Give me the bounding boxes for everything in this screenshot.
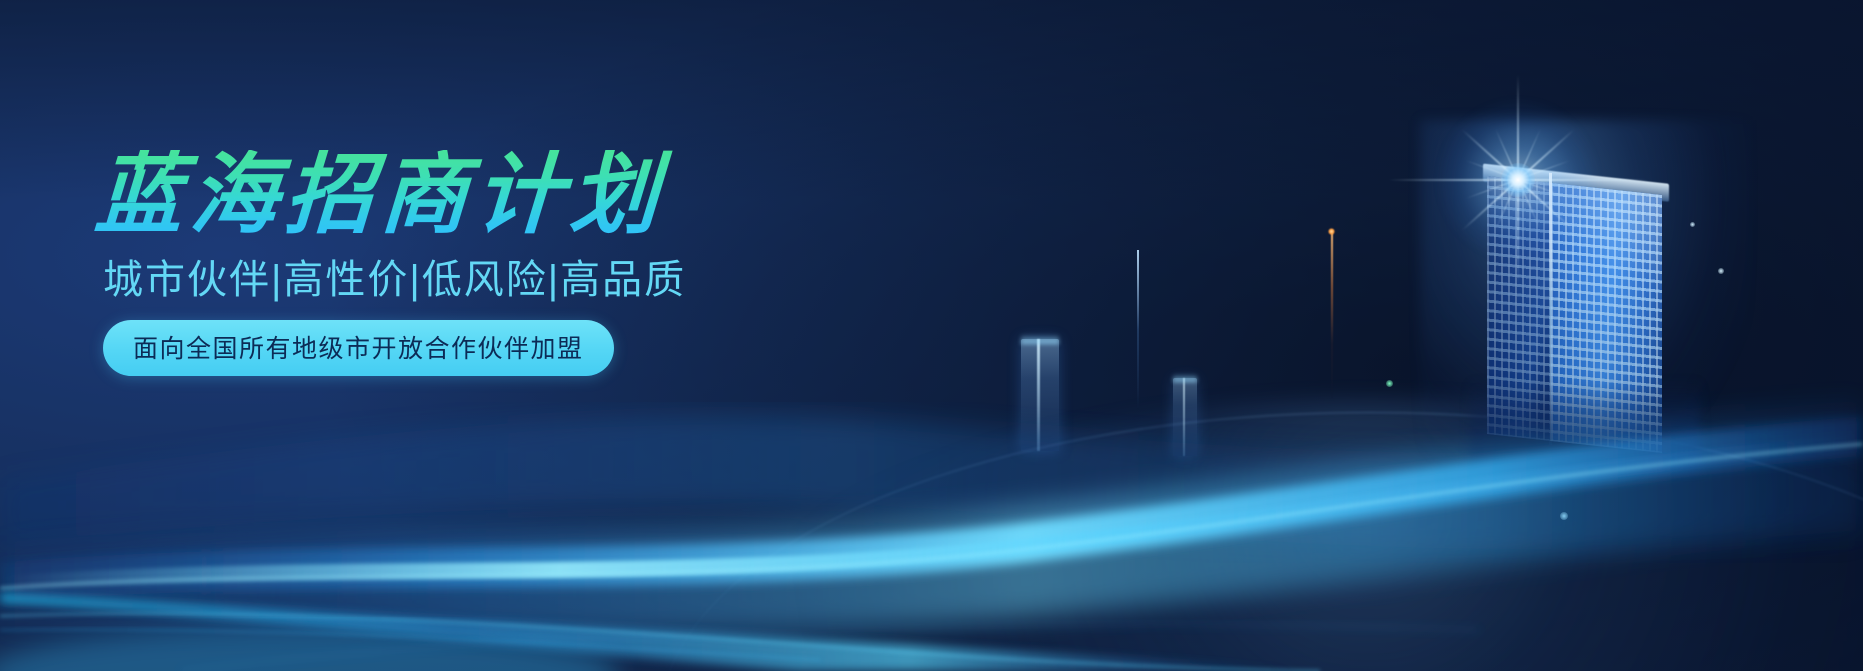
page-title: 蓝海招商计划 bbox=[93, 150, 858, 240]
antenna-tip-light-icon bbox=[1328, 228, 1335, 235]
banner-subtitle: 城市伙伴|高性价|低风险|高品质 bbox=[103, 258, 855, 302]
star-flare-core bbox=[1501, 163, 1535, 197]
particle-cyan-2-icon bbox=[1718, 268, 1724, 274]
status-badge[interactable]: 面向全国所有地级市开放合作伙伴加盟 bbox=[103, 320, 614, 376]
promo-banner: 蓝海招商计划 城市伙伴|高性价|低风险|高品质 面向全国所有地级市开放合作伙伴加… bbox=[0, 0, 1863, 671]
banner-copy-block: 蓝海招商计划 城市伙伴|高性价|低风险|高品质 面向全国所有地级市开放合作伙伴加… bbox=[95, 150, 855, 376]
particle-cyan-3-icon bbox=[1690, 222, 1695, 227]
light-ribbon-waves bbox=[0, 330, 1863, 671]
